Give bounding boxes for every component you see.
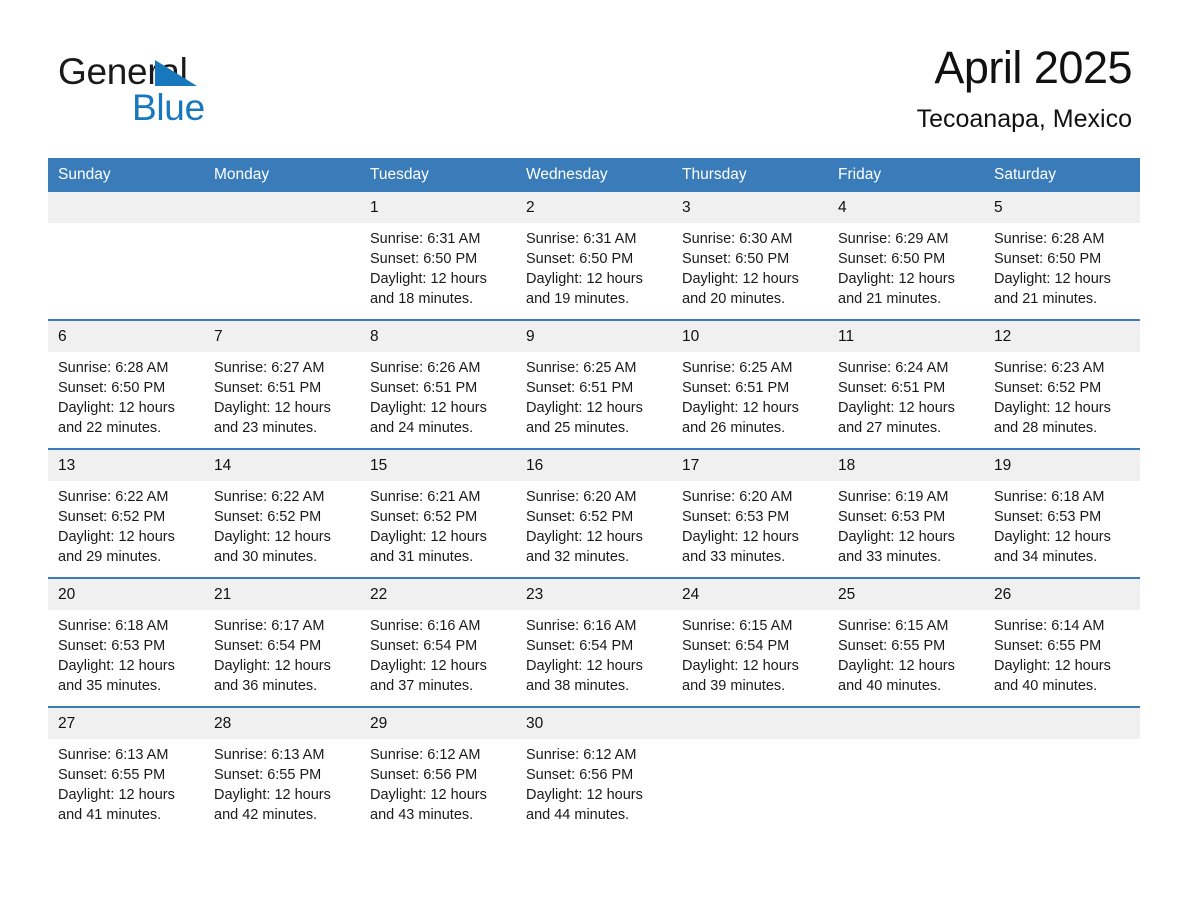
day-number: 21 [204, 579, 360, 610]
day-number [48, 192, 204, 223]
day-cell-inner [48, 192, 204, 310]
day-cell-inner: 3Sunrise: 6:30 AMSunset: 6:50 PMDaylight… [672, 192, 828, 319]
day-number: 16 [516, 450, 672, 481]
sunset-text: Sunset: 6:55 PM [994, 636, 1132, 656]
day-number: 30 [516, 708, 672, 739]
day-details: Sunrise: 6:19 AMSunset: 6:53 PMDaylight:… [828, 481, 984, 577]
sunrise-text: Sunrise: 6:15 AM [682, 616, 820, 636]
day-details: Sunrise: 6:16 AMSunset: 6:54 PMDaylight:… [360, 610, 516, 706]
day-cell-inner: 10Sunrise: 6:25 AMSunset: 6:51 PMDayligh… [672, 321, 828, 448]
daylight-text-line1: Daylight: 12 hours [58, 785, 186, 805]
calendar-day-cell[interactable]: 3Sunrise: 6:30 AMSunset: 6:50 PMDaylight… [672, 192, 828, 320]
daylight-text-line1: Daylight: 12 hours [682, 269, 810, 289]
day-number: 11 [828, 321, 984, 352]
weekday-header-friday: Friday [828, 158, 984, 192]
sunset-text: Sunset: 6:54 PM [682, 636, 820, 656]
day-cell-inner: 7Sunrise: 6:27 AMSunset: 6:51 PMDaylight… [204, 321, 360, 448]
calendar-day-cell[interactable]: 6Sunrise: 6:28 AMSunset: 6:50 PMDaylight… [48, 320, 204, 449]
day-details: Sunrise: 6:21 AMSunset: 6:52 PMDaylight:… [360, 481, 516, 577]
day-cell-inner [672, 708, 828, 826]
daylight-text-line2: and 26 minutes. [682, 418, 810, 438]
daylight-text-line2: and 44 minutes. [526, 805, 654, 825]
day-cell-inner: 25Sunrise: 6:15 AMSunset: 6:55 PMDayligh… [828, 579, 984, 706]
daylight-text-line2: and 33 minutes. [682, 547, 810, 567]
page-title: April 2025 [917, 40, 1132, 96]
day-cell-inner: 19Sunrise: 6:18 AMSunset: 6:53 PMDayligh… [984, 450, 1140, 577]
sunset-text: Sunset: 6:54 PM [214, 636, 352, 656]
calendar-day-cell[interactable]: 8Sunrise: 6:26 AMSunset: 6:51 PMDaylight… [360, 320, 516, 449]
sunrise-text: Sunrise: 6:17 AM [214, 616, 352, 636]
daylight-text-line1: Daylight: 12 hours [994, 269, 1122, 289]
daylight-text-line1: Daylight: 12 hours [838, 398, 966, 418]
sunrise-text: Sunrise: 6:20 AM [682, 487, 820, 507]
daylight-text-line1: Daylight: 12 hours [214, 398, 342, 418]
daylight-text-line2: and 20 minutes. [682, 289, 810, 309]
day-cell-inner: 28Sunrise: 6:13 AMSunset: 6:55 PMDayligh… [204, 708, 360, 835]
day-details: Sunrise: 6:28 AMSunset: 6:50 PMDaylight:… [48, 352, 204, 448]
daylight-text-line2: and 40 minutes. [838, 676, 966, 696]
day-details: Sunrise: 6:27 AMSunset: 6:51 PMDaylight:… [204, 352, 360, 448]
calendar-day-cell[interactable]: 26Sunrise: 6:14 AMSunset: 6:55 PMDayligh… [984, 578, 1140, 707]
weekday-header-saturday: Saturday [984, 158, 1140, 192]
sunrise-text: Sunrise: 6:26 AM [370, 358, 508, 378]
sunset-text: Sunset: 6:50 PM [526, 249, 664, 269]
daylight-text-line1: Daylight: 12 hours [526, 527, 654, 547]
sunset-text: Sunset: 6:53 PM [838, 507, 976, 527]
page-subtitle-location: Tecoanapa, Mexico [917, 102, 1132, 136]
daylight-text-line2: and 38 minutes. [526, 676, 654, 696]
day-cell-inner: 12Sunrise: 6:23 AMSunset: 6:52 PMDayligh… [984, 321, 1140, 448]
day-details: Sunrise: 6:20 AMSunset: 6:53 PMDaylight:… [672, 481, 828, 577]
day-number: 10 [672, 321, 828, 352]
day-number: 8 [360, 321, 516, 352]
sunrise-text: Sunrise: 6:23 AM [994, 358, 1132, 378]
day-details: Sunrise: 6:29 AMSunset: 6:50 PMDaylight:… [828, 223, 984, 319]
calendar-day-cell[interactable]: 22Sunrise: 6:16 AMSunset: 6:54 PMDayligh… [360, 578, 516, 707]
calendar-day-cell[interactable]: 1Sunrise: 6:31 AMSunset: 6:50 PMDaylight… [360, 192, 516, 320]
day-cell-inner: 14Sunrise: 6:22 AMSunset: 6:52 PMDayligh… [204, 450, 360, 577]
daylight-text-line1: Daylight: 12 hours [214, 656, 342, 676]
calendar-day-cell[interactable]: 10Sunrise: 6:25 AMSunset: 6:51 PMDayligh… [672, 320, 828, 449]
daylight-text-line2: and 21 minutes. [838, 289, 966, 309]
day-number: 7 [204, 321, 360, 352]
calendar-day-cell[interactable]: 23Sunrise: 6:16 AMSunset: 6:54 PMDayligh… [516, 578, 672, 707]
day-details: Sunrise: 6:12 AMSunset: 6:56 PMDaylight:… [360, 739, 516, 835]
day-number: 4 [828, 192, 984, 223]
daylight-text-line2: and 21 minutes. [994, 289, 1122, 309]
sunrise-text: Sunrise: 6:22 AM [58, 487, 196, 507]
day-number: 3 [672, 192, 828, 223]
day-details: Sunrise: 6:20 AMSunset: 6:52 PMDaylight:… [516, 481, 672, 577]
sunrise-text: Sunrise: 6:22 AM [214, 487, 352, 507]
daylight-text-line1: Daylight: 12 hours [214, 527, 342, 547]
sunrise-text: Sunrise: 6:13 AM [58, 745, 196, 765]
day-number: 23 [516, 579, 672, 610]
daylight-text-line1: Daylight: 12 hours [838, 269, 966, 289]
day-number: 29 [360, 708, 516, 739]
day-cell-inner [204, 192, 360, 310]
logo-text-line: General [58, 52, 318, 92]
calendar-day-cell-empty [672, 707, 828, 835]
day-number: 1 [360, 192, 516, 223]
day-number: 12 [984, 321, 1140, 352]
daylight-text-line1: Daylight: 12 hours [370, 269, 498, 289]
day-details: Sunrise: 6:17 AMSunset: 6:54 PMDaylight:… [204, 610, 360, 706]
page-header: General Blue April 2025 Tecoanapa, Mexic… [48, 40, 1140, 150]
day-cell-inner: 27Sunrise: 6:13 AMSunset: 6:55 PMDayligh… [48, 708, 204, 835]
day-cell-inner: 9Sunrise: 6:25 AMSunset: 6:51 PMDaylight… [516, 321, 672, 448]
daylight-text-line1: Daylight: 12 hours [370, 656, 498, 676]
day-cell-inner: 4Sunrise: 6:29 AMSunset: 6:50 PMDaylight… [828, 192, 984, 319]
day-number: 24 [672, 579, 828, 610]
daylight-text-line1: Daylight: 12 hours [994, 656, 1122, 676]
day-details: Sunrise: 6:16 AMSunset: 6:54 PMDaylight:… [516, 610, 672, 706]
day-details: Sunrise: 6:18 AMSunset: 6:53 PMDaylight:… [984, 481, 1140, 577]
day-details: Sunrise: 6:25 AMSunset: 6:51 PMDaylight:… [516, 352, 672, 448]
daylight-text-line2: and 30 minutes. [214, 547, 342, 567]
sunrise-text: Sunrise: 6:30 AM [682, 229, 820, 249]
sunset-text: Sunset: 6:53 PM [994, 507, 1132, 527]
day-cell-inner: 30Sunrise: 6:12 AMSunset: 6:56 PMDayligh… [516, 708, 672, 835]
sunset-text: Sunset: 6:51 PM [214, 378, 352, 398]
daylight-text-line1: Daylight: 12 hours [526, 656, 654, 676]
day-details: Sunrise: 6:31 AMSunset: 6:50 PMDaylight:… [516, 223, 672, 319]
sunrise-text: Sunrise: 6:29 AM [838, 229, 976, 249]
day-details: Sunrise: 6:30 AMSunset: 6:50 PMDaylight:… [672, 223, 828, 319]
day-number: 15 [360, 450, 516, 481]
sunrise-text: Sunrise: 6:24 AM [838, 358, 976, 378]
daylight-text-line2: and 40 minutes. [994, 676, 1122, 696]
daylight-text-line1: Daylight: 12 hours [214, 785, 342, 805]
calendar-day-cell[interactable]: 24Sunrise: 6:15 AMSunset: 6:54 PMDayligh… [672, 578, 828, 707]
daylight-text-line2: and 34 minutes. [994, 547, 1122, 567]
calendar-week-row: 1Sunrise: 6:31 AMSunset: 6:50 PMDaylight… [48, 192, 1140, 320]
sunset-text: Sunset: 6:50 PM [994, 249, 1132, 269]
day-details: Sunrise: 6:31 AMSunset: 6:50 PMDaylight:… [360, 223, 516, 319]
sunrise-text: Sunrise: 6:19 AM [838, 487, 976, 507]
sunrise-text: Sunrise: 6:18 AM [994, 487, 1132, 507]
daylight-text-line1: Daylight: 12 hours [58, 656, 186, 676]
day-cell-inner: 11Sunrise: 6:24 AMSunset: 6:51 PMDayligh… [828, 321, 984, 448]
day-cell-inner: 17Sunrise: 6:20 AMSunset: 6:53 PMDayligh… [672, 450, 828, 577]
weekday-header-wednesday: Wednesday [516, 158, 672, 192]
day-cell-inner: 15Sunrise: 6:21 AMSunset: 6:52 PMDayligh… [360, 450, 516, 577]
daylight-text-line2: and 22 minutes. [58, 418, 186, 438]
calendar-day-cell[interactable]: 18Sunrise: 6:19 AMSunset: 6:53 PMDayligh… [828, 449, 984, 578]
title-block: April 2025 Tecoanapa, Mexico [917, 40, 1132, 136]
calendar-day-cell[interactable]: 9Sunrise: 6:25 AMSunset: 6:51 PMDaylight… [516, 320, 672, 449]
sunrise-text: Sunrise: 6:31 AM [370, 229, 508, 249]
daylight-text-line2: and 35 minutes. [58, 676, 186, 696]
day-number: 28 [204, 708, 360, 739]
sunset-text: Sunset: 6:56 PM [526, 765, 664, 785]
day-cell-inner: 16Sunrise: 6:20 AMSunset: 6:52 PMDayligh… [516, 450, 672, 577]
sunset-text: Sunset: 6:55 PM [838, 636, 976, 656]
sunrise-text: Sunrise: 6:28 AM [994, 229, 1132, 249]
daylight-text-line1: Daylight: 12 hours [370, 785, 498, 805]
calendar-day-cell[interactable]: 28Sunrise: 6:13 AMSunset: 6:55 PMDayligh… [204, 707, 360, 835]
sunrise-text: Sunrise: 6:18 AM [58, 616, 196, 636]
sunset-text: Sunset: 6:50 PM [682, 249, 820, 269]
calendar-day-cell[interactable]: 16Sunrise: 6:20 AMSunset: 6:52 PMDayligh… [516, 449, 672, 578]
daylight-text-line1: Daylight: 12 hours [370, 398, 498, 418]
sunrise-text: Sunrise: 6:21 AM [370, 487, 508, 507]
day-cell-inner: 24Sunrise: 6:15 AMSunset: 6:54 PMDayligh… [672, 579, 828, 706]
day-number: 5 [984, 192, 1140, 223]
daylight-text-line1: Daylight: 12 hours [994, 398, 1122, 418]
daylight-text-line1: Daylight: 12 hours [994, 527, 1122, 547]
day-details: Sunrise: 6:15 AMSunset: 6:55 PMDaylight:… [828, 610, 984, 706]
day-details: Sunrise: 6:28 AMSunset: 6:50 PMDaylight:… [984, 223, 1140, 319]
calendar-day-cell[interactable]: 11Sunrise: 6:24 AMSunset: 6:51 PMDayligh… [828, 320, 984, 449]
sunset-text: Sunset: 6:52 PM [370, 507, 508, 527]
sunset-text: Sunset: 6:53 PM [682, 507, 820, 527]
sunset-text: Sunset: 6:51 PM [682, 378, 820, 398]
day-details: Sunrise: 6:13 AMSunset: 6:55 PMDaylight:… [204, 739, 360, 835]
calendar-day-cell[interactable]: 29Sunrise: 6:12 AMSunset: 6:56 PMDayligh… [360, 707, 516, 835]
day-cell-inner [828, 708, 984, 826]
day-number: 27 [48, 708, 204, 739]
sunset-text: Sunset: 6:50 PM [838, 249, 976, 269]
day-cell-inner: 2Sunrise: 6:31 AMSunset: 6:50 PMDaylight… [516, 192, 672, 319]
daylight-text-line1: Daylight: 12 hours [838, 527, 966, 547]
calendar-day-cell[interactable]: 25Sunrise: 6:15 AMSunset: 6:55 PMDayligh… [828, 578, 984, 707]
daylight-text-line1: Daylight: 12 hours [58, 527, 186, 547]
day-number: 9 [516, 321, 672, 352]
daylight-text-line1: Daylight: 12 hours [838, 656, 966, 676]
day-number: 2 [516, 192, 672, 223]
sunset-text: Sunset: 6:53 PM [58, 636, 196, 656]
day-cell-inner: 22Sunrise: 6:16 AMSunset: 6:54 PMDayligh… [360, 579, 516, 706]
daylight-text-line1: Daylight: 12 hours [58, 398, 186, 418]
day-number [204, 192, 360, 223]
sunrise-text: Sunrise: 6:20 AM [526, 487, 664, 507]
daylight-text-line2: and 41 minutes. [58, 805, 186, 825]
day-details: Sunrise: 6:26 AMSunset: 6:51 PMDaylight:… [360, 352, 516, 448]
day-details: Sunrise: 6:22 AMSunset: 6:52 PMDaylight:… [48, 481, 204, 577]
daylight-text-line2: and 27 minutes. [838, 418, 966, 438]
day-cell-inner: 1Sunrise: 6:31 AMSunset: 6:50 PMDaylight… [360, 192, 516, 319]
calendar-day-cell[interactable]: 21Sunrise: 6:17 AMSunset: 6:54 PMDayligh… [204, 578, 360, 707]
calendar-day-cell[interactable]: 7Sunrise: 6:27 AMSunset: 6:51 PMDaylight… [204, 320, 360, 449]
sunrise-text: Sunrise: 6:25 AM [526, 358, 664, 378]
sunset-text: Sunset: 6:54 PM [370, 636, 508, 656]
calendar-day-cell-empty [48, 192, 204, 320]
calendar-day-cell[interactable]: 30Sunrise: 6:12 AMSunset: 6:56 PMDayligh… [516, 707, 672, 835]
sunset-text: Sunset: 6:52 PM [214, 507, 352, 527]
calendar-table: Sunday Monday Tuesday Wednesday Thursday… [48, 158, 1140, 835]
sunrise-text: Sunrise: 6:15 AM [838, 616, 976, 636]
sunset-text: Sunset: 6:54 PM [526, 636, 664, 656]
daylight-text-line2: and 25 minutes. [526, 418, 654, 438]
day-details: Sunrise: 6:22 AMSunset: 6:52 PMDaylight:… [204, 481, 360, 577]
calendar-day-cell-empty [984, 707, 1140, 835]
calendar-page: General Blue April 2025 Tecoanapa, Mexic… [0, 0, 1188, 918]
sunset-text: Sunset: 6:51 PM [370, 378, 508, 398]
sunset-text: Sunset: 6:55 PM [58, 765, 196, 785]
calendar-week-row: 6Sunrise: 6:28 AMSunset: 6:50 PMDaylight… [48, 320, 1140, 449]
daylight-text-line2: and 39 minutes. [682, 676, 810, 696]
daylight-text-line1: Daylight: 12 hours [526, 785, 654, 805]
day-number [984, 708, 1140, 739]
sunrise-text: Sunrise: 6:13 AM [214, 745, 352, 765]
day-number: 13 [48, 450, 204, 481]
daylight-text-line1: Daylight: 12 hours [682, 398, 810, 418]
day-cell-inner: 13Sunrise: 6:22 AMSunset: 6:52 PMDayligh… [48, 450, 204, 577]
sunset-text: Sunset: 6:52 PM [58, 507, 196, 527]
sunrise-text: Sunrise: 6:12 AM [370, 745, 508, 765]
logo-triangle-icon [155, 60, 197, 86]
weekday-header-sunday: Sunday [48, 158, 204, 192]
day-number [828, 708, 984, 739]
day-details: Sunrise: 6:18 AMSunset: 6:53 PMDaylight:… [48, 610, 204, 706]
calendar-header-row: Sunday Monday Tuesday Wednesday Thursday… [48, 158, 1140, 192]
daylight-text-line1: Daylight: 12 hours [526, 398, 654, 418]
daylight-text-line2: and 31 minutes. [370, 547, 498, 567]
day-number: 25 [828, 579, 984, 610]
calendar-day-cell-empty [204, 192, 360, 320]
daylight-text-line1: Daylight: 12 hours [526, 269, 654, 289]
day-cell-inner: 26Sunrise: 6:14 AMSunset: 6:55 PMDayligh… [984, 579, 1140, 706]
daylight-text-line1: Daylight: 12 hours [682, 656, 810, 676]
calendar-day-cell[interactable]: 13Sunrise: 6:22 AMSunset: 6:52 PMDayligh… [48, 449, 204, 578]
day-cell-inner: 20Sunrise: 6:18 AMSunset: 6:53 PMDayligh… [48, 579, 204, 706]
day-details: Sunrise: 6:25 AMSunset: 6:51 PMDaylight:… [672, 352, 828, 448]
sunset-text: Sunset: 6:51 PM [526, 378, 664, 398]
day-cell-inner: 21Sunrise: 6:17 AMSunset: 6:54 PMDayligh… [204, 579, 360, 706]
sunset-text: Sunset: 6:52 PM [526, 507, 664, 527]
day-number: 17 [672, 450, 828, 481]
calendar-day-cell[interactable]: 17Sunrise: 6:20 AMSunset: 6:53 PMDayligh… [672, 449, 828, 578]
calendar-day-cell[interactable]: 5Sunrise: 6:28 AMSunset: 6:50 PMDaylight… [984, 192, 1140, 320]
calendar-day-cell[interactable]: 12Sunrise: 6:23 AMSunset: 6:52 PMDayligh… [984, 320, 1140, 449]
calendar-day-cell-empty [828, 707, 984, 835]
calendar-day-cell[interactable]: 2Sunrise: 6:31 AMSunset: 6:50 PMDaylight… [516, 192, 672, 320]
daylight-text-line2: and 37 minutes. [370, 676, 498, 696]
day-number: 14 [204, 450, 360, 481]
sunrise-text: Sunrise: 6:16 AM [526, 616, 664, 636]
day-number: 18 [828, 450, 984, 481]
calendar-day-cell[interactable]: 14Sunrise: 6:22 AMSunset: 6:52 PMDayligh… [204, 449, 360, 578]
day-details: Sunrise: 6:12 AMSunset: 6:56 PMDaylight:… [516, 739, 672, 835]
sunrise-text: Sunrise: 6:14 AM [994, 616, 1132, 636]
day-number [672, 708, 828, 739]
sunset-text: Sunset: 6:55 PM [214, 765, 352, 785]
day-details: Sunrise: 6:13 AMSunset: 6:55 PMDaylight:… [48, 739, 204, 835]
day-cell-inner [984, 708, 1140, 826]
sunrise-text: Sunrise: 6:12 AM [526, 745, 664, 765]
day-details: Sunrise: 6:24 AMSunset: 6:51 PMDaylight:… [828, 352, 984, 448]
calendar-day-cell[interactable]: 19Sunrise: 6:18 AMSunset: 6:53 PMDayligh… [984, 449, 1140, 578]
day-number: 26 [984, 579, 1140, 610]
daylight-text-line2: and 32 minutes. [526, 547, 654, 567]
daylight-text-line2: and 29 minutes. [58, 547, 186, 567]
daylight-text-line2: and 43 minutes. [370, 805, 498, 825]
sunset-text: Sunset: 6:50 PM [370, 249, 508, 269]
day-number: 20 [48, 579, 204, 610]
sunrise-text: Sunrise: 6:16 AM [370, 616, 508, 636]
day-cell-inner: 18Sunrise: 6:19 AMSunset: 6:53 PMDayligh… [828, 450, 984, 577]
daylight-text-line1: Daylight: 12 hours [682, 527, 810, 547]
sunrise-text: Sunrise: 6:27 AM [214, 358, 352, 378]
daylight-text-line2: and 36 minutes. [214, 676, 342, 696]
calendar-day-cell[interactable]: 4Sunrise: 6:29 AMSunset: 6:50 PMDaylight… [828, 192, 984, 320]
weekday-header-thursday: Thursday [672, 158, 828, 192]
day-number: 6 [48, 321, 204, 352]
sunset-text: Sunset: 6:50 PM [58, 378, 196, 398]
day-cell-inner: 29Sunrise: 6:12 AMSunset: 6:56 PMDayligh… [360, 708, 516, 835]
sunrise-text: Sunrise: 6:25 AM [682, 358, 820, 378]
daylight-text-line2: and 18 minutes. [370, 289, 498, 309]
day-cell-inner: 5Sunrise: 6:28 AMSunset: 6:50 PMDaylight… [984, 192, 1140, 319]
day-cell-inner: 6Sunrise: 6:28 AMSunset: 6:50 PMDaylight… [48, 321, 204, 448]
sunset-text: Sunset: 6:56 PM [370, 765, 508, 785]
day-cell-inner: 23Sunrise: 6:16 AMSunset: 6:54 PMDayligh… [516, 579, 672, 706]
daylight-text-line1: Daylight: 12 hours [370, 527, 498, 547]
sunrise-text: Sunrise: 6:28 AM [58, 358, 196, 378]
daylight-text-line2: and 24 minutes. [370, 418, 498, 438]
weekday-header-tuesday: Tuesday [360, 158, 516, 192]
calendar-day-cell[interactable]: 15Sunrise: 6:21 AMSunset: 6:52 PMDayligh… [360, 449, 516, 578]
calendar-day-cell[interactable]: 27Sunrise: 6:13 AMSunset: 6:55 PMDayligh… [48, 707, 204, 835]
calendar-week-row: 20Sunrise: 6:18 AMSunset: 6:53 PMDayligh… [48, 578, 1140, 707]
daylight-text-line2: and 23 minutes. [214, 418, 342, 438]
daylight-text-line2: and 42 minutes. [214, 805, 342, 825]
day-details: Sunrise: 6:23 AMSunset: 6:52 PMDaylight:… [984, 352, 1140, 448]
day-number: 22 [360, 579, 516, 610]
daylight-text-line2: and 33 minutes. [838, 547, 966, 567]
logo-word-blue: Blue [132, 88, 205, 128]
day-details: Sunrise: 6:14 AMSunset: 6:55 PMDaylight:… [984, 610, 1140, 706]
general-blue-logo[interactable]: General Blue [58, 52, 318, 142]
sunrise-text: Sunrise: 6:31 AM [526, 229, 664, 249]
calendar-day-cell[interactable]: 20Sunrise: 6:18 AMSunset: 6:53 PMDayligh… [48, 578, 204, 707]
sunset-text: Sunset: 6:51 PM [838, 378, 976, 398]
day-details: Sunrise: 6:15 AMSunset: 6:54 PMDaylight:… [672, 610, 828, 706]
day-cell-inner: 8Sunrise: 6:26 AMSunset: 6:51 PMDaylight… [360, 321, 516, 448]
calendar-body: 1Sunrise: 6:31 AMSunset: 6:50 PMDaylight… [48, 192, 1140, 835]
weekday-header-monday: Monday [204, 158, 360, 192]
daylight-text-line2: and 19 minutes. [526, 289, 654, 309]
day-number: 19 [984, 450, 1140, 481]
daylight-text-line2: and 28 minutes. [994, 418, 1122, 438]
sunset-text: Sunset: 6:52 PM [994, 378, 1132, 398]
calendar-week-row: 13Sunrise: 6:22 AMSunset: 6:52 PMDayligh… [48, 449, 1140, 578]
calendar-week-row: 27Sunrise: 6:13 AMSunset: 6:55 PMDayligh… [48, 707, 1140, 835]
